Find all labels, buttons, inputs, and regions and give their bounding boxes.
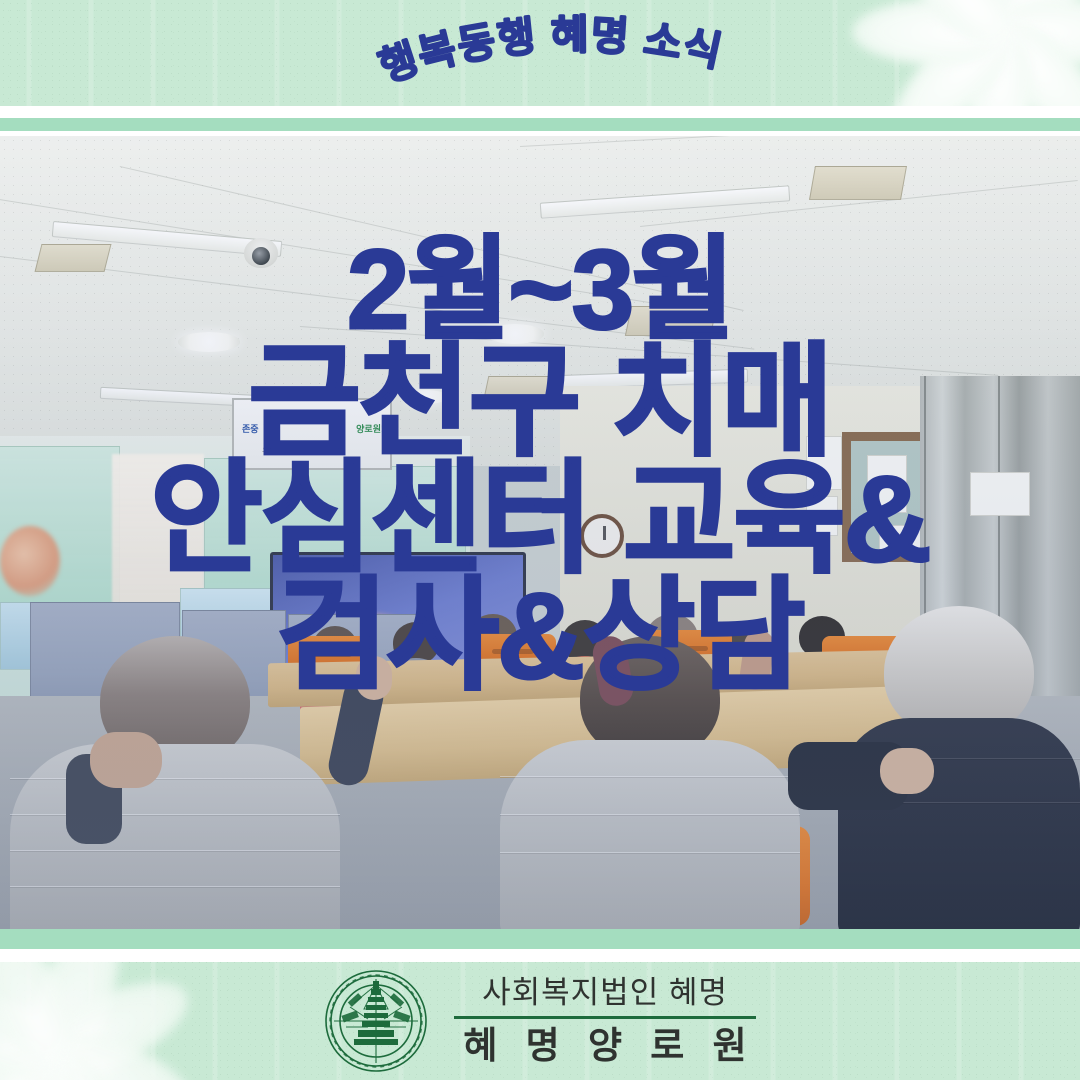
elevator-notice: [970, 472, 1030, 516]
banner-text-sub: 우리 모두가 소중한: [262, 444, 333, 457]
person-figure: [838, 606, 1080, 929]
banner-title: 행복동행 혜명 소식: [0, 0, 1080, 106]
security-camera-icon: [244, 238, 278, 268]
decor-flowers: [0, 526, 60, 596]
person-figure: [10, 636, 340, 929]
presentation-banner: 존중 양로원! 우리 모두가 소중한: [232, 398, 392, 470]
footer-divider: [454, 1016, 755, 1019]
footer-org-block: 사회복지법인 혜명 혜 명 양 로 원: [454, 975, 755, 1067]
org-name-label: 혜 명 양 로 원: [454, 1026, 755, 1067]
divider-stripe-white: [0, 106, 1080, 118]
event-photo: 존중 양로원! 우리 모두가 소중한: [0, 136, 1080, 929]
svg-text:행복동행 혜명 소식: 행복동행 혜명 소식: [373, 12, 727, 91]
banner-title-text: 행복동행 혜명 소식: [373, 12, 727, 91]
divider-stripe-green: [0, 929, 1080, 949]
footer: 사회복지법인 혜명 혜 명 양 로 원: [0, 962, 1080, 1080]
hyemyeong-seal-emblem-icon: [324, 969, 428, 1073]
top-banner: 행복동행 혜명 소식: [0, 0, 1080, 106]
banner-text-right: 양로원!: [356, 422, 384, 435]
divider-stripe-white: [0, 949, 1080, 962]
divider-stripe-green: [0, 118, 1080, 131]
banner-text-left: 존중: [242, 422, 259, 435]
wall-clock-icon: [580, 514, 624, 558]
org-type-label: 사회복지법인 혜명: [482, 975, 728, 1011]
poster-card: 행복동행 혜명 소식: [0, 0, 1080, 1080]
